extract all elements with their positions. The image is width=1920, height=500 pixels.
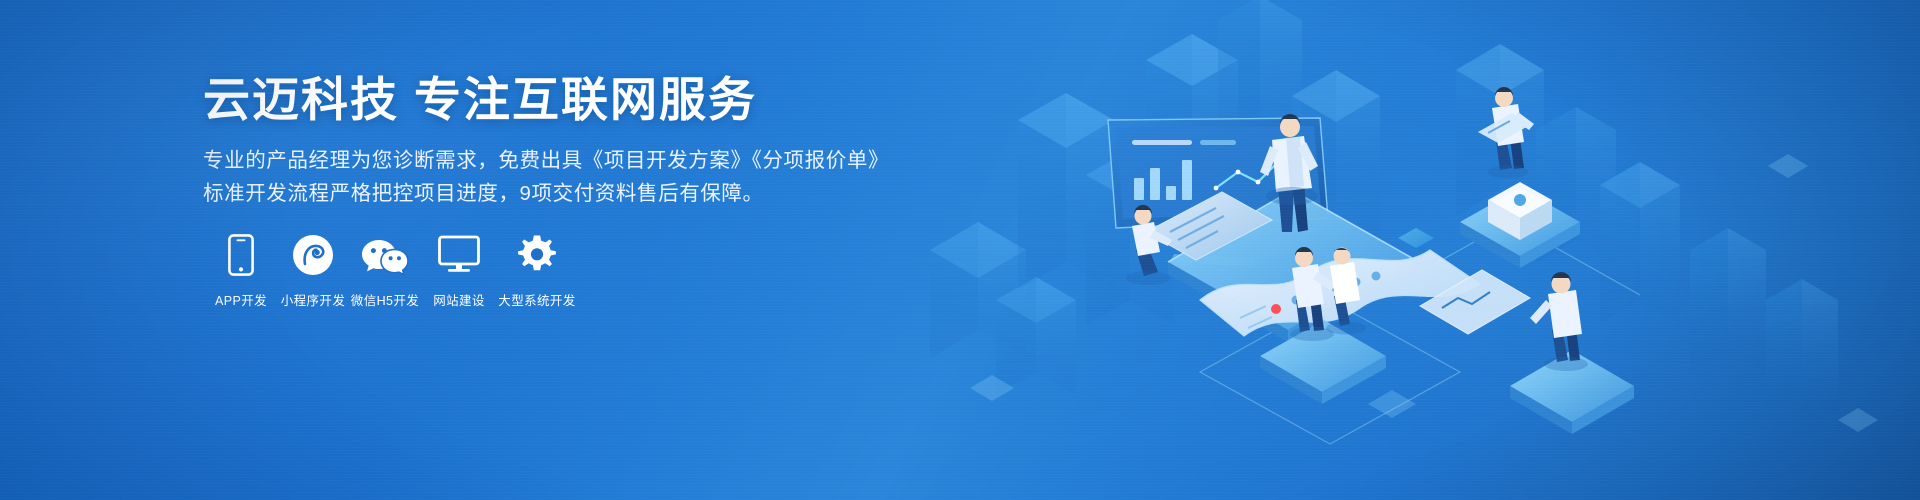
monitor-icon [438, 232, 480, 278]
service-list: APP开发 小程序开发 [205, 232, 573, 309]
wechat-icon [361, 232, 409, 278]
illustration-isometric-data-dashboard [900, 0, 1920, 500]
hero-subtitle-line-1: 专业的产品经理为您诊断需求，免费出具《项目开发方案》《分项报价单》 [203, 144, 903, 177]
page-title: 云迈科技 专注互联网服务 [203, 72, 757, 128]
service-label-wechat-h5: 微信H5开发 [351, 290, 419, 309]
gear-icon [516, 232, 558, 278]
service-item-website[interactable]: 网站建设 [423, 232, 495, 309]
service-item-mini-program[interactable]: 小程序开发 [277, 232, 349, 309]
hero-subtitle-line-2: 标准开发流程严格把控项目进度，9项交付资料售后有保障。 [203, 177, 903, 210]
mini-program-icon [292, 232, 334, 278]
hero-subtitle: 专业的产品经理为您诊断需求，免费出具《项目开发方案》《分项报价单》 标准开发流程… [203, 144, 903, 210]
service-item-large-system[interactable]: 大型系统开发 [501, 232, 573, 309]
hero-banner: 云迈科技 专注互联网服务 专业的产品经理为您诊断需求，免费出具《项目开发方案》《… [0, 0, 1920, 500]
service-item-wechat-h5[interactable]: 微信H5开发 [349, 232, 421, 309]
mobile-phone-icon [228, 232, 254, 278]
service-item-app[interactable]: APP开发 [205, 232, 277, 309]
service-label-website: 网站建设 [433, 290, 485, 309]
service-label-app: APP开发 [215, 290, 267, 309]
service-label-large-system: 大型系统开发 [498, 290, 575, 309]
service-label-mini-program: 小程序开发 [281, 290, 346, 309]
